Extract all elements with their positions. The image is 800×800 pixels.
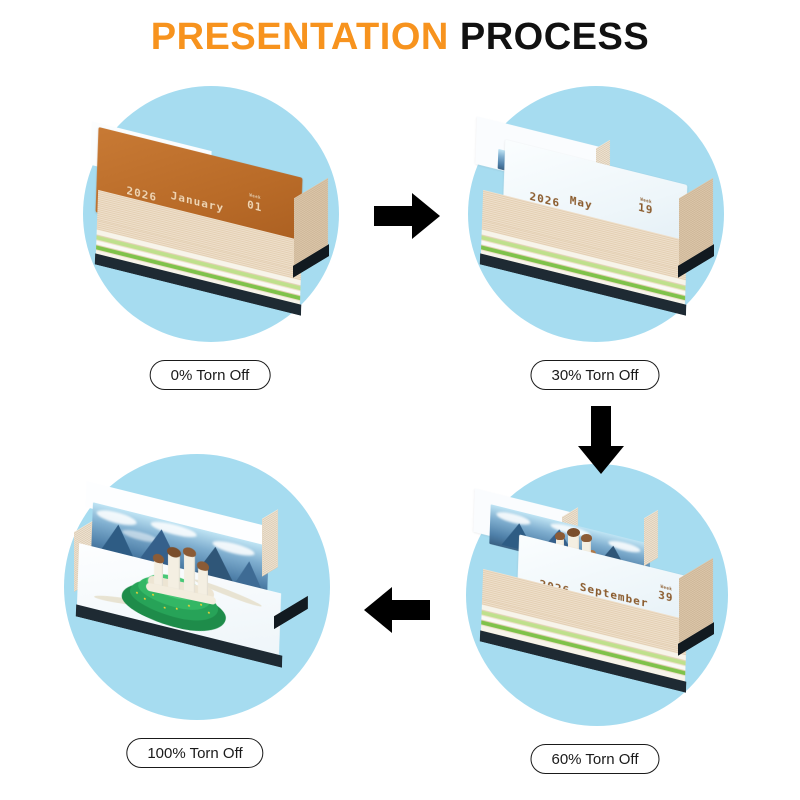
process-step-100[interactable]: 100% Torn Off [40, 450, 350, 790]
arrow-left-icon [362, 584, 432, 636]
diorama-block-100 [66, 494, 316, 684]
page-title: PRESENTATION PROCESS [0, 0, 800, 59]
process-step-60[interactable]: 2026 September 39 Week SUMOTUWETHFRSA 20… [440, 458, 750, 798]
caption-badge: 100% Torn Off [126, 738, 263, 768]
page-title-accent: PRESENTATION [151, 16, 449, 58]
process-step-30[interactable]: 2026 May 19 Week SUMOTUWETHFRSA 03040506… [440, 78, 750, 418]
process-step-0[interactable]: 2026 January 01 Week SUMOTUWETHFRSA 0102… [55, 78, 365, 418]
diorama-right-edge [644, 510, 658, 566]
arrow-down-icon [575, 404, 627, 476]
calendar-block-60: 2026 September 39 Week SUMOTUWETHFRSA 20… [474, 498, 718, 688]
calendar-block-0: 2026 January 01 Week SUMOTUWETHFRSA 0102… [89, 124, 333, 314]
caption-badge: 0% Torn Off [150, 360, 271, 390]
calendar-block-30: 2026 May 19 Week SUMOTUWETHFRSA 03040506… [474, 124, 718, 314]
caption-badge: 30% Torn Off [531, 360, 660, 390]
process-grid: 2026 January 01 Week SUMOTUWETHFRSA 0102… [0, 72, 800, 800]
torn-right-edge [262, 509, 278, 577]
page-title-rest: PROCESS [449, 16, 649, 58]
arrow-right-icon [372, 190, 442, 242]
caption-badge: 60% Torn Off [531, 744, 660, 774]
